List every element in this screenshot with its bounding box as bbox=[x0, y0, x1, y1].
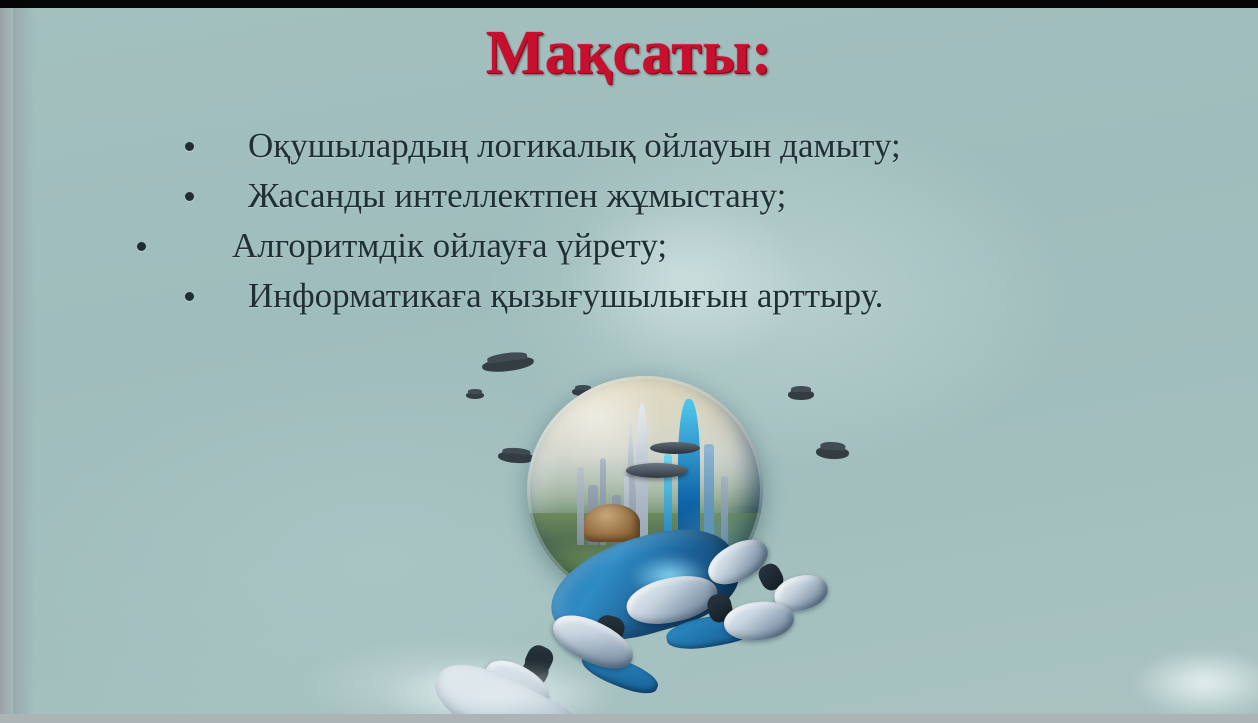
drone-icon bbox=[816, 446, 850, 460]
list-item: Алгоритмдік ойлауға үйрету; bbox=[0, 226, 1258, 276]
list-item-label: Жасанды интеллектпен жұмыстану; bbox=[248, 176, 786, 216]
flying-vehicle-icon bbox=[650, 442, 700, 454]
list-item: Жасанды интеллектпен жұмыстану; bbox=[0, 176, 1258, 226]
bullet-marker-icon bbox=[185, 192, 194, 201]
list-item-label: Оқушылардың логикалық ойлауын дамыту; bbox=[248, 126, 901, 166]
list-item-label: Алгоритмдік ойлауға үйрету; bbox=[232, 226, 667, 266]
flying-vehicle-icon bbox=[626, 463, 688, 478]
bottom-letterbox-bar bbox=[0, 714, 1258, 723]
presentation-slide: Мақсаты: Оқушылардың логикалық ойлауын д… bbox=[0, 0, 1258, 723]
left-edge-shadow bbox=[13, 8, 35, 714]
illustration bbox=[0, 0, 1258, 723]
list-item-label: Информатикаға қызығушылығын арттыру. bbox=[248, 276, 883, 316]
finger-segment bbox=[722, 598, 796, 643]
slide-title: Мақсаты: bbox=[0, 18, 1258, 89]
bullet-marker-icon bbox=[185, 292, 194, 301]
objectives-list: Оқушылардың логикалық ойлауын дамыту; Жа… bbox=[0, 126, 1258, 326]
list-item: Оқушылардың логикалық ойлауын дамыту; bbox=[0, 126, 1258, 176]
bullet-marker-icon bbox=[137, 242, 146, 251]
top-letterbox-bar bbox=[0, 0, 1258, 8]
list-item: Информатикаға қызығушылығын арттыру. bbox=[0, 276, 1258, 326]
left-edge-band bbox=[0, 8, 13, 714]
drone-icon bbox=[481, 355, 534, 374]
drone-icon bbox=[788, 390, 814, 400]
bullet-marker-icon bbox=[185, 142, 194, 151]
drone-icon bbox=[466, 392, 484, 399]
